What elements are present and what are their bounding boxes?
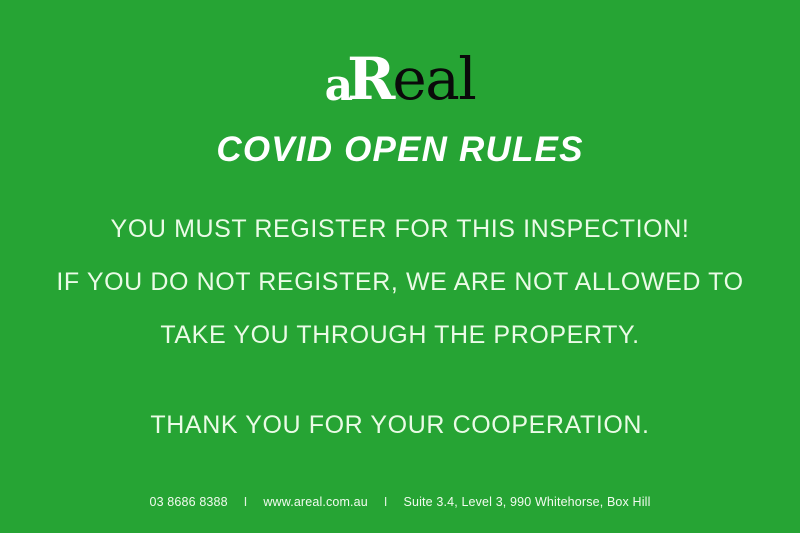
message-line: YOU MUST REGISTER FOR THIS INSPECTION! [40,203,760,256]
footer-separator-icon: I [228,495,264,509]
logo-letter-r: R [347,50,392,108]
logo-letter-a: a [325,64,348,108]
logo-letters-eal: eal [392,50,475,108]
footer-website[interactable]: www.areal.com.au [263,495,368,509]
footer-address: Suite 3.4, Level 3, 990 Whitehorse, Box … [404,495,651,509]
logo-wordmark: aReal [325,50,476,108]
covid-rules-poster: aReal COVID OPEN RULES YOU MUST REGISTER… [0,0,800,533]
brand-logo: aReal [0,36,800,108]
footer-separator-icon: I [368,495,404,509]
footer-phone: 03 8686 8388 [149,495,227,509]
message-body: YOU MUST REGISTER FOR THIS INSPECTION! I… [40,203,760,452]
message-line: TAKE YOU THROUGH THE PROPERTY. [40,309,760,362]
contact-footer: 03 8686 8388 I www.areal.com.au I Suite … [0,495,800,509]
page-title: COVID OPEN RULES [0,131,800,170]
message-line: IF YOU DO NOT REGISTER, WE ARE NOT ALLOW… [40,256,760,309]
message-line: THANK YOU FOR YOUR COOPERATION. [40,399,760,452]
